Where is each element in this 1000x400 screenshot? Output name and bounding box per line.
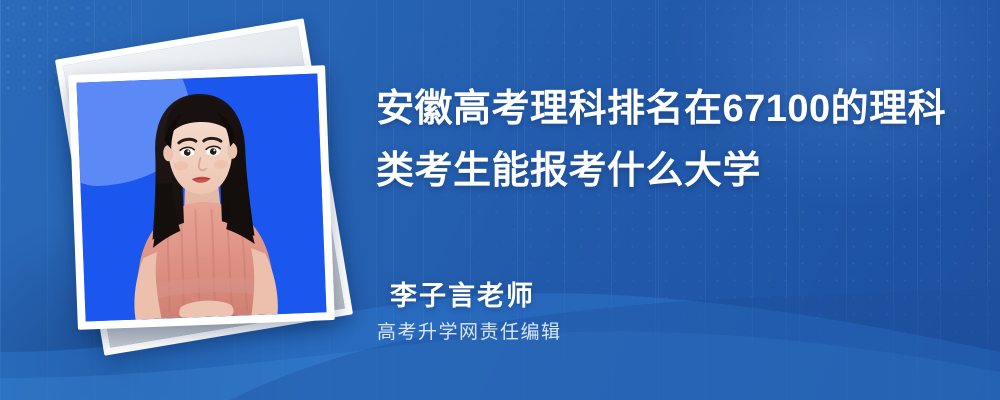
author-name: 李子言老师 bbox=[390, 274, 535, 313]
page-title-line-2: 类考生能报考什么大学 bbox=[376, 140, 956, 202]
article-hero-banner: 安徽高考理科排名在67100的理科 类考生能报考什么大学 李子言老师 高考升学网… bbox=[0, 0, 1000, 400]
author-portrait-photo bbox=[77, 73, 327, 321]
photo-card-front bbox=[68, 65, 335, 330]
page-title-line-1: 安徽高考理科排名在67100的理科 bbox=[376, 78, 956, 140]
photo-card-stack bbox=[40, 35, 350, 355]
author-role: 高考升学网责任编辑 bbox=[377, 317, 562, 344]
page-title: 安徽高考理科排名在67100的理科 类考生能报考什么大学 bbox=[376, 78, 956, 202]
photo-backdrop bbox=[77, 73, 327, 321]
